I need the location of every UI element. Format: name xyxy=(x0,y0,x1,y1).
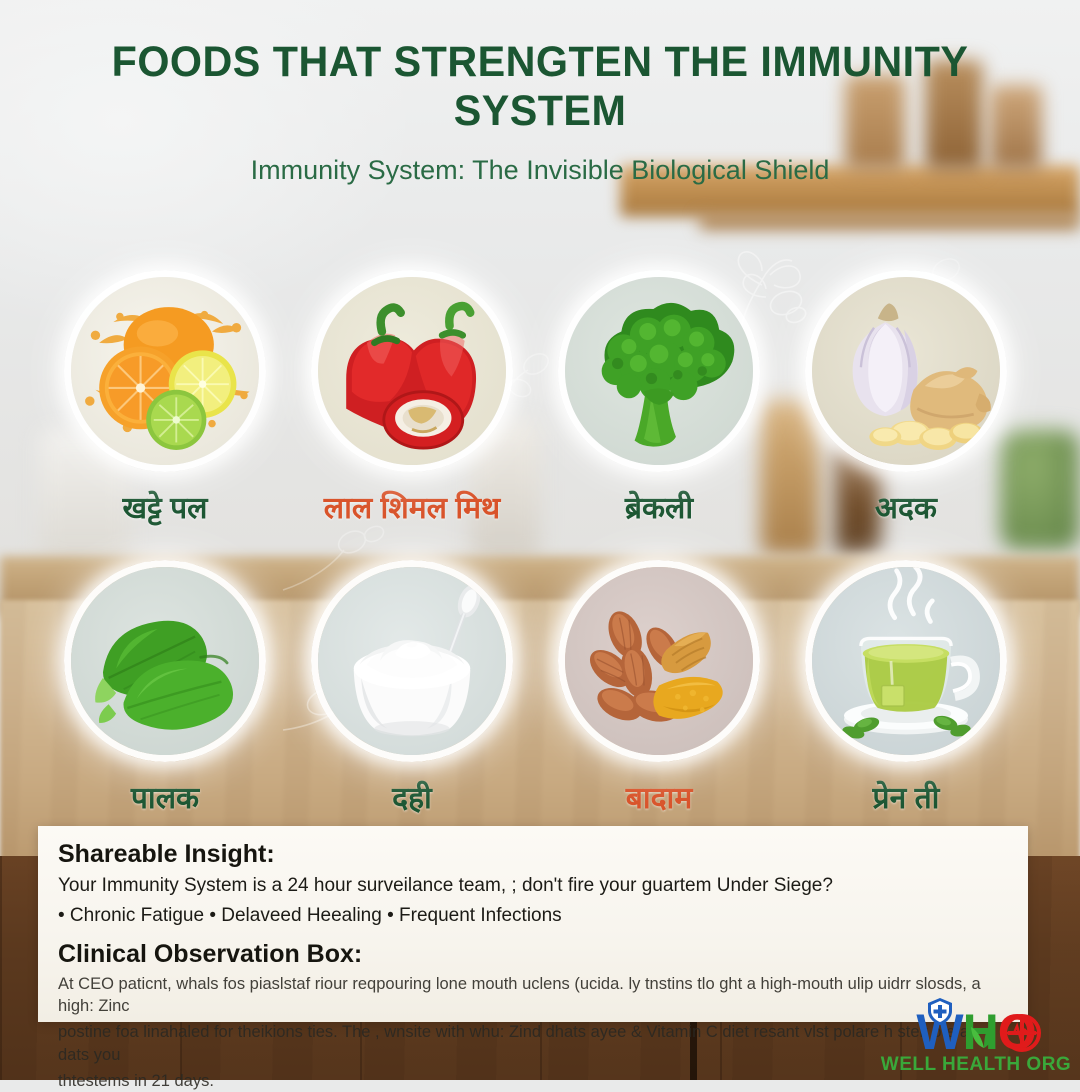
food-label: अदक xyxy=(786,486,1026,527)
food-item-broccoli[interactable]: ब्रेकली xyxy=(539,270,779,527)
food-label: पालक xyxy=(45,776,285,817)
yogurt-bowl-icon xyxy=(311,560,513,762)
food-item-green-tea[interactable]: प्रेन ती xyxy=(786,560,1026,817)
food-label: प्रेन ती xyxy=(786,776,1026,817)
almonds-turmeric-icon xyxy=(558,560,760,762)
food-label: लाल शिमल मिथ xyxy=(292,486,532,527)
info-panel: Shareable Insight: Your Immunity System … xyxy=(38,826,1028,1022)
logo-wordmark: W H O xyxy=(878,1009,1074,1057)
clinical-observation-line: thtestems in 21 days. xyxy=(58,1070,1008,1092)
food-item-garlic-ginger[interactable]: अदक xyxy=(786,270,1026,527)
food-item-bell-pepper[interactable]: लाल शिमल मिथ xyxy=(292,270,532,527)
clinical-observation-line: postine foa linahaled for theikions ties… xyxy=(58,1021,1008,1066)
food-label: दही xyxy=(292,776,532,817)
food-item-spinach[interactable]: पालक xyxy=(45,560,285,817)
page-subtitle: Immunity System: The Invisible Biologica… xyxy=(0,155,1080,186)
shareable-insight-text: Your Immunity System is a 24 hour survei… xyxy=(58,874,1008,898)
food-label: बादाम xyxy=(539,776,779,817)
green-tea-cup-icon xyxy=(805,560,1007,762)
food-grid: खट्टे पल xyxy=(0,270,1080,850)
red-bell-pepper-icon xyxy=(311,270,513,472)
food-label: खट्टे पल xyxy=(45,486,285,527)
background-shelf-underside xyxy=(700,215,1080,229)
garlic-ginger-icon xyxy=(805,270,1007,472)
shareable-insight-bullets: • Chronic Fatigue • Delaveed Heealing • … xyxy=(58,905,1008,927)
leaf-icon xyxy=(969,1015,999,1049)
food-item-almonds-turmeric[interactable]: बादाम xyxy=(539,560,779,817)
food-item-yogurt[interactable]: दही xyxy=(292,560,532,817)
header: FOODS THAT STRENGTEN THE IMMUNITY SYSTEM… xyxy=(0,0,1080,186)
spinach-icon xyxy=(64,560,266,762)
clinical-observation-line: At CEO paticnt, whals fos piaslstaf riou… xyxy=(58,973,1008,1018)
shield-icon xyxy=(925,996,955,1026)
food-label: ब्रेकली xyxy=(539,486,779,527)
broccoli-icon xyxy=(558,270,760,472)
who-logo[interactable]: W H O WELL HEALTH ORG xyxy=(878,1009,1074,1077)
citrus-fruits-icon xyxy=(64,270,266,472)
shareable-insight-heading: Shareable Insight: xyxy=(58,840,1008,869)
clinical-observation-heading: Clinical Observation Box: xyxy=(58,940,1008,969)
page-title: FOODS THAT STRENGTEN THE IMMUNITY SYSTEM xyxy=(22,38,1059,136)
food-row-1: खट्टे पल xyxy=(0,270,1080,560)
pulse-cross-icon xyxy=(1002,1013,1042,1053)
food-item-citrus[interactable]: खट्टे पल xyxy=(45,270,285,527)
food-row-2: पालक xyxy=(0,560,1080,850)
